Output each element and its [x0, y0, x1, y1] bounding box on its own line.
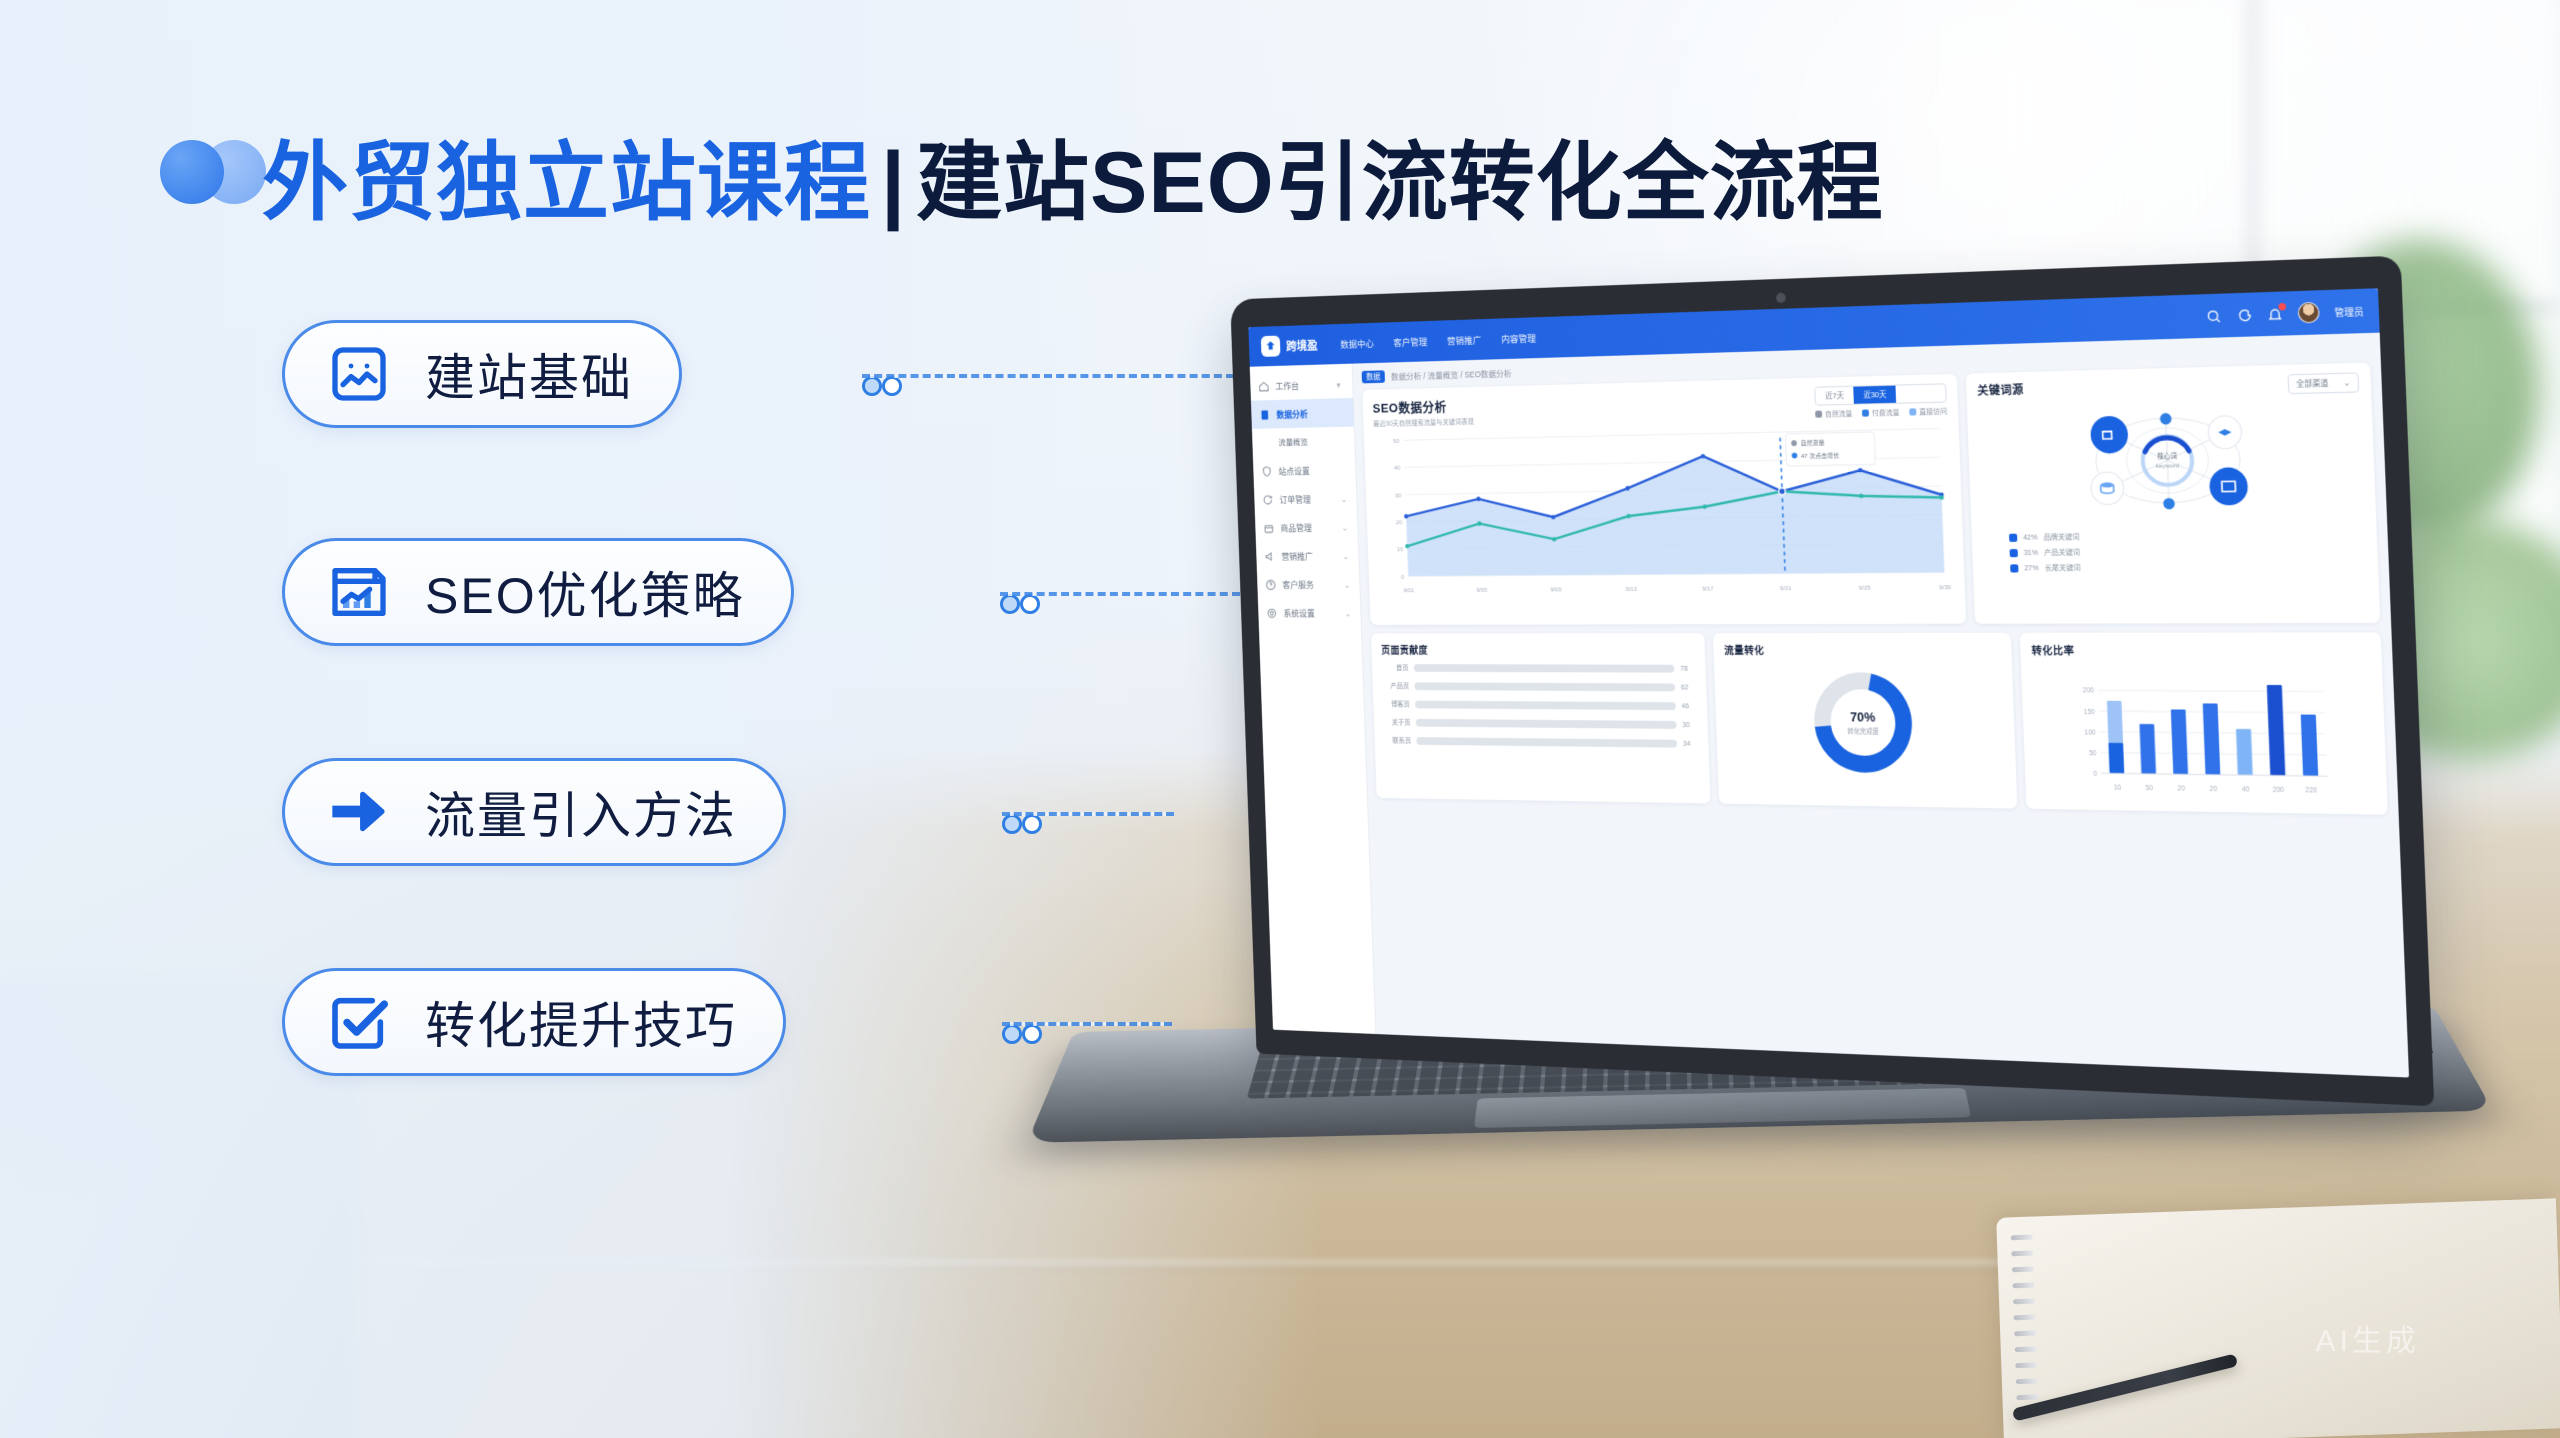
sidebar-item-customer-service[interactable]: 客户服务 ⌄	[1257, 570, 1360, 599]
topbar-nav[interactable]: 数据中心 客户管理 营销推广 内容管理	[1340, 331, 1536, 351]
legend-item: 付费流量	[1862, 408, 1900, 419]
page-bar-track	[1414, 664, 1675, 672]
checkbox-check-icon	[327, 990, 391, 1054]
traffic-conversion-card: 流量转化 70% 转化完成度	[1713, 633, 2017, 809]
keyword-legend-item: 27%长尾关键词	[2010, 561, 2366, 574]
laptop-lid: 跨境盈 数据中心 客户管理 营销推广 内容管理	[1230, 256, 2434, 1107]
keyword-card-title: 关键词源	[1977, 381, 2024, 398]
keyword-legend-item: 42%品牌关键词	[2009, 529, 2365, 543]
svg-text:200: 200	[2083, 687, 2095, 695]
bell-icon[interactable]	[2267, 306, 2284, 322]
sidebar-item-orders[interactable]: 订单管理 ⌄	[1254, 484, 1357, 514]
laptop: 跨境盈 数据中心 客户管理 营销推广 内容管理	[1080, 278, 2440, 1178]
connector-knob-left	[1002, 814, 1022, 834]
conversion-donut-chart: 70% 转化完成度	[1803, 663, 1923, 783]
chevron-down-icon: ⌄	[1341, 522, 1349, 531]
sidebar-item-products[interactable]: 商品管理 ⌄	[1255, 512, 1358, 542]
pages-card-title: 页面贡献度	[1381, 642, 1695, 657]
donut-center-value: 70%	[1850, 710, 1876, 725]
logo-dots-icon	[160, 140, 270, 206]
poster-canvas: 外贸独立站课程|建站SEO引流转化全流程 建站基础 SE	[0, 0, 2560, 1438]
brand-logo-icon	[1261, 336, 1281, 357]
conversion-card-title: 转化比率	[2031, 642, 2369, 658]
page-bar-track	[1416, 719, 1677, 729]
svg-text:9/30: 9/30	[1939, 585, 1952, 591]
brand[interactable]: 跨境盈	[1261, 334, 1318, 357]
feature-pill-label: 流量引入方法	[425, 776, 737, 848]
page-bar-row: 产品页 62	[1382, 681, 1696, 692]
sidebar-item-label: 站点设置	[1278, 463, 1347, 477]
breadcrumb-tag: 数据	[1362, 370, 1385, 383]
seo-card-subtitle: 最近30天自然搜索流量与关键词表现	[1373, 417, 1474, 429]
svg-text:50: 50	[2089, 750, 2097, 758]
sidebar-item-traffic-overview[interactable]: 流量概览	[1252, 427, 1355, 458]
dashboard-content: 数据 数据分析 / 流量概览 / SEO数据分析 SEO数据分析	[1353, 333, 2410, 1078]
notification-badge	[2278, 302, 2286, 310]
page-contribution-bars: 首页 78 产品页 62 博客页 46 关于页 30 联系页 34	[1382, 663, 1699, 749]
keyword-hub-diagram: 核心词 keyword	[1978, 395, 2364, 524]
svg-text:100: 100	[2084, 729, 2096, 737]
question-icon	[1265, 578, 1277, 590]
svg-text:20: 20	[1396, 520, 1403, 526]
page-contribution-card: 页面贡献度 首页 78 产品页 62 博客页 46 关于页 30 联系页 34	[1371, 633, 1711, 803]
donut-center-label: 转化完成度	[1848, 727, 1880, 736]
page-bar-row: 关于页 30	[1384, 718, 1698, 730]
sidebar-item-label: 数据分析	[1276, 406, 1345, 420]
chevron-down-icon: ⌄	[1344, 608, 1352, 617]
svg-text:10: 10	[1397, 547, 1404, 553]
svg-text:50: 50	[2145, 785, 2153, 793]
dashboard-row-top: SEO数据分析 最近30天自然搜索流量与关键词表现 近7天 近30天	[1362, 363, 2380, 625]
sidebar-item-system-settings[interactable]: 系统设置 ⌄	[1258, 598, 1361, 627]
seo-card-title: SEO数据分析	[1372, 396, 1473, 417]
feature-pill-seo-strategy[interactable]: SEO优化策略	[282, 538, 794, 646]
svg-text:40: 40	[2242, 786, 2251, 794]
topbar-actions: 管理员	[2205, 300, 2364, 326]
svg-text:9/21: 9/21	[1780, 586, 1792, 592]
svg-text:150: 150	[2084, 708, 2096, 716]
keyword-legend-item: 31%产品关键词	[2009, 545, 2365, 559]
dashboard-app: 跨境盈 数据中心 客户管理 营销推广 内容管理	[1248, 288, 2409, 1077]
brand-name: 跨境盈	[1286, 337, 1318, 354]
laptop-screen: 跨境盈 数据中心 客户管理 营销推广 内容管理	[1248, 288, 2409, 1077]
donut-wrapper: 70% 转化完成度	[1725, 663, 2006, 784]
seo-legend: 自然流量 付费流量 直接访问	[1815, 407, 1947, 420]
page-bar-track	[1415, 701, 1676, 711]
feature-pill-label: 转化提升技巧	[425, 986, 737, 1058]
sidebar-item-label: 工作台	[1275, 378, 1330, 392]
nav-item[interactable]: 数据中心	[1340, 336, 1374, 350]
page-bar-track	[1414, 682, 1675, 691]
sidebar-item-label: 客户服务	[1282, 578, 1337, 591]
connector-knob-right	[1022, 814, 1042, 834]
page-bar-value: 78	[1680, 665, 1695, 672]
feature-pill-conversion-tips[interactable]: 转化提升技巧	[282, 968, 786, 1076]
gear-icon	[1266, 607, 1278, 619]
trackpad	[1474, 1088, 1972, 1128]
page-bar-label: 联系页	[1384, 736, 1411, 746]
conversion-bar-chart: 0501001502001050202040200220	[2032, 657, 2376, 802]
feature-pill-website-basics[interactable]: 建站基础	[282, 320, 682, 428]
website-basics-icon	[327, 342, 391, 406]
svg-text:20: 20	[2177, 785, 2185, 793]
page-bar-value: 30	[1682, 722, 1697, 729]
svg-text:200: 200	[2273, 787, 2285, 795]
dashboard-body: 工作台 ▾ 数据分析 流量概览	[1250, 333, 2409, 1078]
page-bar-value: 62	[1681, 684, 1696, 691]
sidebar-item-label: 系统设置	[1283, 606, 1338, 619]
nav-item[interactable]: 内容管理	[1501, 331, 1536, 346]
svg-text:220: 220	[2305, 787, 2317, 795]
chevron-down-icon: ⌄	[1342, 551, 1350, 560]
svg-text:30: 30	[1395, 493, 1402, 499]
page-title-part2: 建站SEO引流转化全流程	[916, 135, 1884, 231]
page-bar-track	[1416, 737, 1677, 748]
sidebar-item-label: 流量概览	[1278, 435, 1346, 448]
svg-text:0: 0	[1401, 574, 1405, 580]
connector-knob-right	[1020, 594, 1040, 614]
conversion-rate-card: 转化比率 0501001502001050202040200220	[2020, 632, 2388, 814]
shield-icon	[1261, 465, 1273, 477]
page-bar-label: 关于页	[1384, 718, 1411, 728]
sidebar-item-label: 商品管理	[1280, 521, 1335, 534]
page-bar-value: 46	[1682, 703, 1697, 710]
range-option-7d[interactable]: 近7天	[1815, 387, 1854, 405]
nav-item[interactable]: 客户管理	[1393, 334, 1427, 349]
keyword-source-card: 关键词源 全部渠道 ⌄	[1966, 363, 2381, 624]
page-title: 外贸独立站课程|建站SEO引流转化全流程	[262, 112, 1884, 237]
seo-area-chart: 010203040509/019/059/099/139/179/219/259…	[1373, 419, 1954, 600]
nav-item[interactable]: 营销推广	[1447, 333, 1482, 348]
sidebar-item-label: 营销推广	[1281, 549, 1336, 562]
chevron-down-icon: ⌄	[1343, 580, 1351, 589]
connector-knob-right	[1022, 1024, 1042, 1044]
svg-text:9/05: 9/05	[1476, 588, 1488, 594]
message-icon[interactable]	[2236, 307, 2252, 323]
sidebar-item-marketing[interactable]: 营销推广 ⌄	[1256, 541, 1359, 570]
channel-select[interactable]: 全部渠道 ⌄	[2287, 372, 2359, 394]
legend-item: 自然流量	[1815, 409, 1852, 420]
page-title-separator: |	[871, 135, 916, 231]
dashboard-row-bottom: 页面贡献度 首页 78 产品页 62 博客页 46 关于页 30 联系页 34	[1371, 632, 2388, 814]
refresh-icon	[1262, 493, 1274, 505]
keyword-legend: 42%品牌关键词 31%产品关键词 27%长尾关键词	[1983, 529, 2367, 574]
seo-chart-icon	[327, 560, 391, 624]
chevron-down-icon: ⌄	[1340, 494, 1348, 503]
channel-select-value: 全部渠道	[2296, 377, 2329, 389]
username: 管理员	[2334, 304, 2364, 319]
notebook-spiral	[2011, 1235, 2040, 1430]
watermark: AI生成	[2316, 1316, 2420, 1360]
page-title-part1: 外贸独立站课程	[262, 135, 871, 231]
arrow-right-icon	[327, 780, 391, 844]
svg-text:10: 10	[2114, 784, 2122, 792]
page-bar-value: 34	[1683, 740, 1698, 747]
svg-text:9/01: 9/01	[1403, 589, 1414, 595]
chevron-down-icon: ⌄	[2343, 378, 2350, 388]
chart-icon	[1259, 408, 1271, 421]
legend-item: 直接访问	[1909, 407, 1947, 418]
search-icon[interactable]	[2205, 308, 2221, 324]
svg-text:9/17: 9/17	[1702, 587, 1714, 593]
connector-knob-right	[882, 376, 902, 396]
chevron-down-icon: ▾	[1336, 380, 1344, 389]
svg-text:9/25: 9/25	[1859, 586, 1872, 592]
feature-pill-traffic-methods[interactable]: 流量引入方法	[282, 758, 786, 866]
connector-knob-left	[1000, 594, 1020, 614]
range-option-30d[interactable]: 近30天	[1853, 386, 1896, 404]
connector-knob-left	[862, 376, 882, 396]
sidebar-item-workbench[interactable]: 工作台 ▾	[1250, 369, 1353, 400]
page-bar-label: 产品页	[1382, 681, 1409, 691]
svg-text:50: 50	[1393, 439, 1400, 445]
box-icon	[1263, 522, 1275, 534]
traffic-card-title: 流量转化	[1724, 642, 2001, 657]
hub-label-2: keyword	[2156, 463, 2179, 470]
breadcrumb-path: 数据分析 / 流量概览 / SEO数据分析	[1391, 367, 1512, 382]
svg-text:9/09: 9/09	[1550, 588, 1561, 594]
page-bar-label: 博客页	[1383, 699, 1410, 709]
sidebar-item-site-settings[interactable]: 站点设置	[1253, 455, 1356, 485]
avatar[interactable]	[2298, 302, 2320, 324]
svg-text:0: 0	[2093, 770, 2098, 778]
webcam-icon	[1776, 293, 1786, 303]
svg-text:40: 40	[1394, 466, 1401, 472]
connector-knob-left	[1002, 1024, 1022, 1044]
megaphone-icon	[1264, 550, 1276, 562]
page-bar-label: 首页	[1382, 663, 1409, 673]
home-icon	[1258, 380, 1270, 393]
page-bar-row: 联系页 34	[1384, 736, 1698, 749]
svg-text:9/13: 9/13	[1626, 587, 1638, 593]
sidebar-item-label: 订单管理	[1279, 492, 1334, 505]
range-segmented-control[interactable]: 近7天 近30天	[1814, 383, 1947, 405]
svg-text:20: 20	[2209, 786, 2217, 794]
page-bar-row: 首页 78	[1382, 663, 1696, 674]
feature-pill-label: 建站基础	[425, 338, 633, 410]
sidebar-item-analytics[interactable]: 数据分析	[1251, 398, 1354, 429]
page-bar-row: 博客页 46	[1383, 699, 1697, 711]
seo-analysis-card: SEO数据分析 最近30天自然搜索流量与关键词表现 近7天 近30天	[1362, 374, 1966, 625]
feature-pill-label: SEO优化策略	[425, 556, 745, 628]
